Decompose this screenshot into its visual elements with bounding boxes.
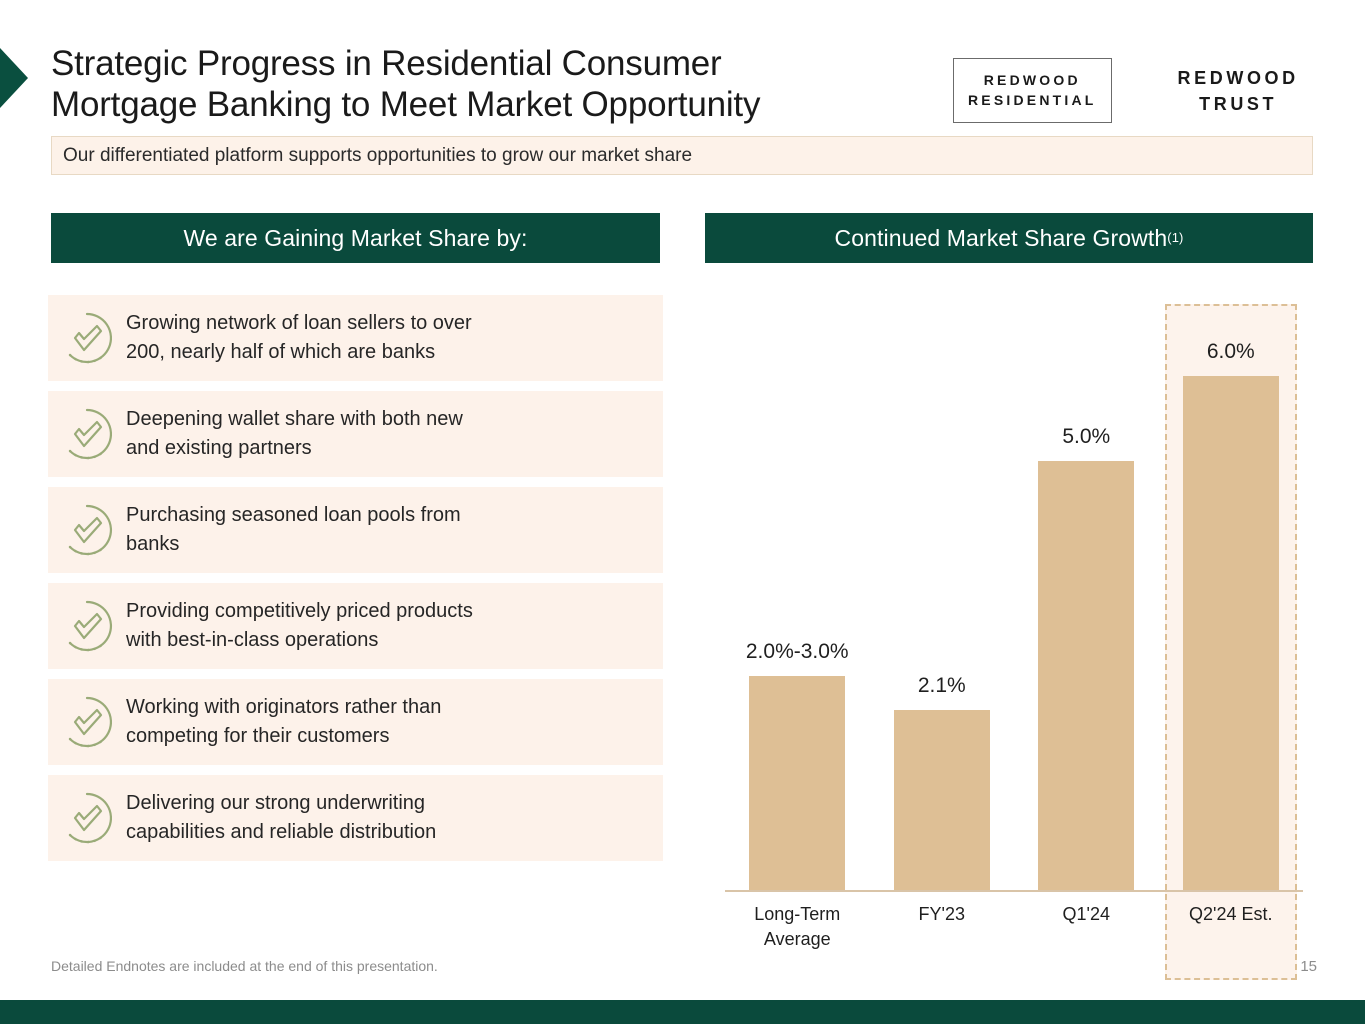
bar-value-label: 2.0%-3.0%	[713, 640, 881, 664]
subtitle-text: Our differentiated platform supports opp…	[52, 145, 692, 167]
list-item-label-line-2: and existing partners	[126, 437, 312, 459]
list-item-label: Working with originators rather thancomp…	[126, 693, 455, 751]
chart-x-axis	[725, 890, 1303, 892]
redwood-trust-logo-line-1: REDWOOD	[1178, 65, 1299, 91]
chart-category-label-line: Average	[764, 929, 831, 949]
redwood-residential-logo-line-1: REDWOOD	[968, 70, 1097, 90]
chart-category-label-line: Q1'24	[1063, 904, 1110, 924]
logo-group: REDWOOD RESIDENTIAL REDWOOD TRUST	[953, 58, 1299, 123]
chart-plot-area: 2.0%-3.0%Long-TermAverage2.1%FY'235.0%Q1…	[725, 290, 1303, 890]
list-item: Deepening wallet share with both newand …	[48, 391, 663, 477]
page-title: Strategic Progress in Residential Consum…	[51, 43, 931, 125]
redwood-trust-logo: REDWOOD TRUST	[1178, 65, 1299, 117]
chart-category-label: FY'23	[858, 902, 1026, 927]
chart-category-label-line: Long-Term	[754, 904, 840, 924]
gaining-market-share-list: Growing network of loan sellers to over2…	[48, 295, 663, 871]
right-panel-header-label: Continued Market Share Growth	[835, 225, 1168, 252]
market-share-growth-chart: 2.0%-3.0%Long-TermAverage2.1%FY'235.0%Q1…	[705, 290, 1315, 950]
bar-value-label: 2.1%	[858, 674, 1026, 698]
list-item: Providing competitively priced productsw…	[48, 583, 663, 669]
page-title-line-2: Mortgage Banking to Meet Market Opportun…	[51, 84, 931, 125]
chart-category-label: Q2'24 Est.	[1147, 902, 1315, 927]
slide-root: Strategic Progress in Residential Consum…	[0, 0, 1365, 1024]
list-item-label: Deepening wallet share with both newand …	[126, 405, 477, 463]
chart-bar	[1183, 376, 1279, 890]
left-panel-header: We are Gaining Market Share by:	[51, 213, 660, 263]
list-item-label-line-1: Working with originators rather than	[126, 696, 441, 718]
check-circle-icon	[48, 598, 126, 654]
list-item-label: Delivering our strong underwritingcapabi…	[126, 789, 450, 847]
list-item: Delivering our strong underwritingcapabi…	[48, 775, 663, 861]
left-panel-header-label: We are Gaining Market Share by:	[183, 225, 527, 252]
redwood-trust-logo-line-2: TRUST	[1178, 91, 1299, 117]
chart-category-label-line: FY'23	[919, 904, 965, 924]
list-item-label-line-1: Growing network of loan sellers to over	[126, 312, 472, 334]
page-number: 15	[1300, 958, 1317, 975]
bar-value-label: 6.0%	[1147, 340, 1315, 364]
check-circle-icon	[48, 406, 126, 462]
bar-group: 2.0%-3.0%	[749, 290, 845, 890]
bar-value-label: 5.0%	[1002, 425, 1170, 449]
list-item-label: Providing competitively priced productsw…	[126, 597, 487, 655]
chart-bar	[1038, 461, 1134, 890]
list-item-label-line-1: Delivering our strong underwriting	[126, 792, 425, 814]
redwood-residential-logo-line-2: RESIDENTIAL	[968, 90, 1097, 110]
list-item-label-line-2: with best-in-class operations	[126, 629, 378, 651]
redwood-residential-logo: REDWOOD RESIDENTIAL	[953, 58, 1112, 123]
list-item-label-line-2: capabilities and reliable distribution	[126, 821, 436, 843]
bar-group: 6.0%	[1183, 290, 1279, 890]
chart-category-label-line: Q2'24 Est.	[1189, 904, 1272, 924]
check-circle-icon	[48, 694, 126, 750]
bar-group: 2.1%	[894, 290, 990, 890]
bottom-accent-bar	[0, 1000, 1365, 1024]
chart-bar	[749, 676, 845, 890]
list-item: Growing network of loan sellers to over2…	[48, 295, 663, 381]
chart-bar	[894, 710, 990, 890]
bar-group: 5.0%	[1038, 290, 1134, 890]
chart-category-label: Q1'24	[1002, 902, 1170, 927]
list-item-label-line-1: Purchasing seasoned loan pools from	[126, 504, 461, 526]
list-item-label-line-1: Deepening wallet share with both new	[126, 408, 463, 430]
check-circle-icon	[48, 502, 126, 558]
page-title-line-1: Strategic Progress in Residential Consum…	[51, 43, 931, 84]
check-circle-icon	[48, 790, 126, 846]
chart-category-label: Long-TermAverage	[713, 902, 881, 952]
list-item-label-line-1: Providing competitively priced products	[126, 600, 473, 622]
list-item-label-line-2: competing for their customers	[126, 725, 389, 747]
footnote-text: Detailed Endnotes are included at the en…	[51, 958, 438, 974]
list-item-label-line-2: 200, nearly half of which are banks	[126, 341, 435, 363]
list-item-label: Growing network of loan sellers to over2…	[126, 309, 486, 367]
check-circle-icon	[48, 310, 126, 366]
list-item: Purchasing seasoned loan pools frombanks	[48, 487, 663, 573]
triangle-arrow-icon	[0, 48, 28, 108]
list-item-label-line-2: banks	[126, 533, 179, 555]
list-item-label: Purchasing seasoned loan pools frombanks	[126, 501, 475, 559]
list-item: Working with originators rather thancomp…	[48, 679, 663, 765]
right-panel-header: Continued Market Share Growth(1)	[705, 213, 1313, 263]
subtitle-banner: Our differentiated platform supports opp…	[51, 136, 1313, 175]
